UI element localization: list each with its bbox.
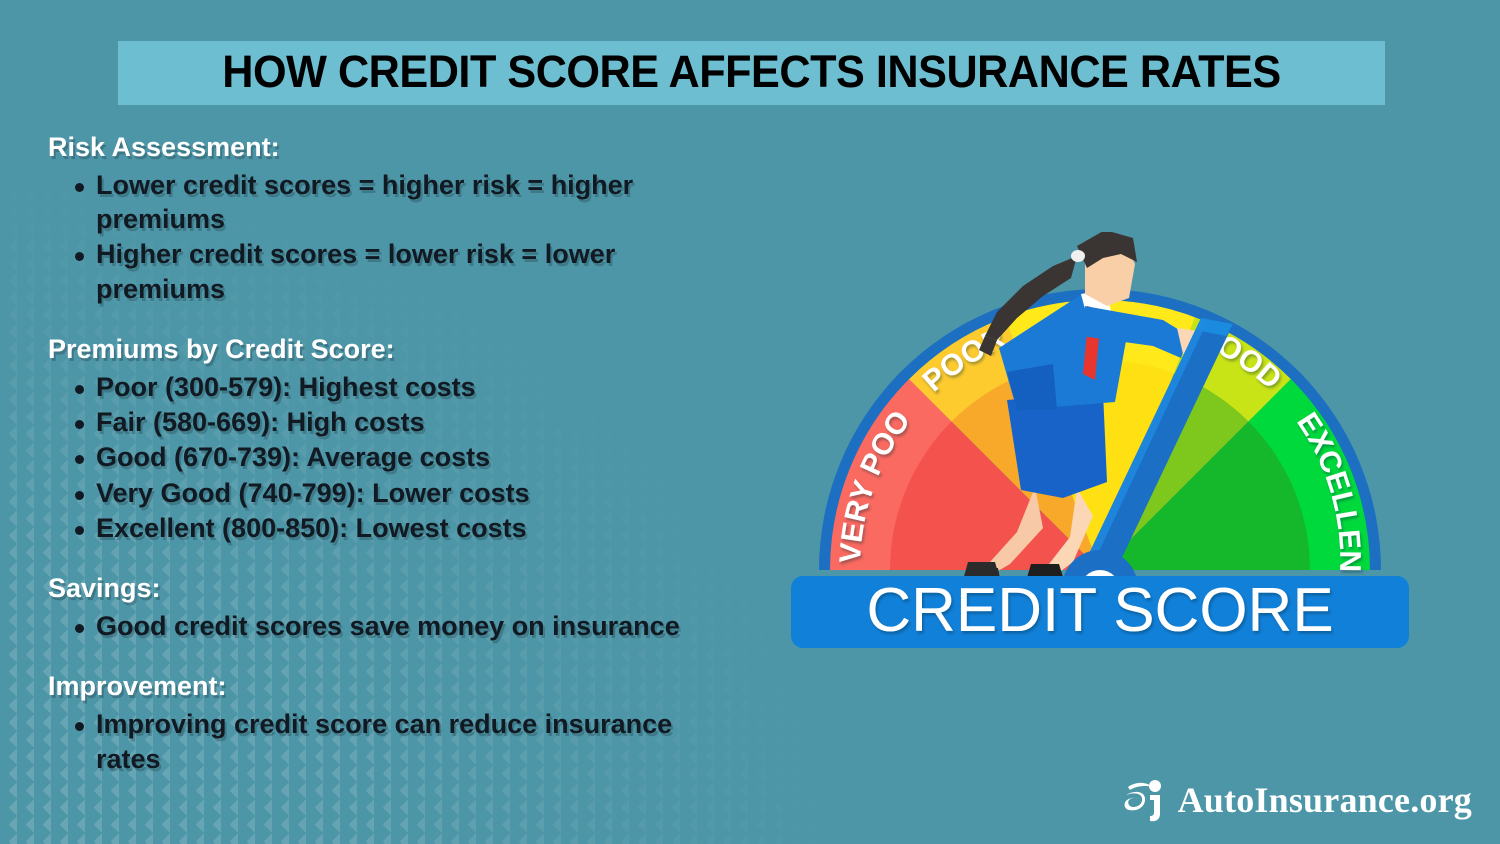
spacer xyxy=(44,645,764,671)
brand-name: AutoInsurance.org xyxy=(1178,782,1472,818)
page-title: HOW CREDIT SCORE AFFECTS INSURANCE RATES xyxy=(143,38,1359,106)
section-heading: Savings: xyxy=(48,573,764,605)
section-risk-assessment: Risk Assessment: Lower credit scores = h… xyxy=(44,132,764,306)
woman-hair-tie xyxy=(1071,250,1085,262)
content-column: Risk Assessment: Lower credit scores = h… xyxy=(44,132,764,778)
section-heading: Premiums by Credit Score: xyxy=(48,334,764,366)
list-item: Higher credit scores = lower risk = lowe… xyxy=(44,237,736,306)
credit-score-gauge-illustration: VERY POOR POOR GOOD EXCELLENT xyxy=(785,232,1415,652)
list-item: Improving credit score can reduce insura… xyxy=(44,707,736,776)
section-premiums-by-credit-score: Premiums by Credit Score: Poor (300-579)… xyxy=(44,334,764,545)
spacer xyxy=(44,547,764,573)
list-item: Very Good (740-799): Lower costs xyxy=(44,476,736,510)
list-item: Good (670-739): Average costs xyxy=(44,440,736,474)
list-item: Poor (300-579): Highest costs xyxy=(44,370,736,404)
spacer xyxy=(44,308,764,334)
banner-label: CREDIT SCORE xyxy=(866,576,1333,645)
brand-logo[interactable]: AutoInsurance.org xyxy=(1122,778,1472,822)
list-item: Good credit scores save money on insuran… xyxy=(44,609,736,643)
bullet-list: Poor (300-579): Highest costs Fair (580-… xyxy=(44,370,764,545)
infographic-poster: HOW CREDIT SCORE AFFECTS INSURANCE RATES… xyxy=(0,0,1500,844)
list-item: Excellent (800-850): Lowest costs xyxy=(44,511,736,545)
section-heading: Improvement: xyxy=(48,671,764,703)
section-heading: Risk Assessment: xyxy=(48,132,764,164)
autoinsurance-logo-icon xyxy=(1122,778,1164,822)
bullet-list: Lower credit scores = higher risk = high… xyxy=(44,168,764,306)
list-item: Lower credit scores = higher risk = high… xyxy=(44,168,736,237)
bullet-list: Good credit scores save money on insuran… xyxy=(44,609,764,643)
bullet-list: Improving credit score can reduce insura… xyxy=(44,707,764,776)
list-item: Fair (580-669): High costs xyxy=(44,405,736,439)
section-savings: Savings: Good credit scores save money o… xyxy=(44,573,764,643)
section-improvement: Improvement: Improving credit score can … xyxy=(44,671,764,775)
